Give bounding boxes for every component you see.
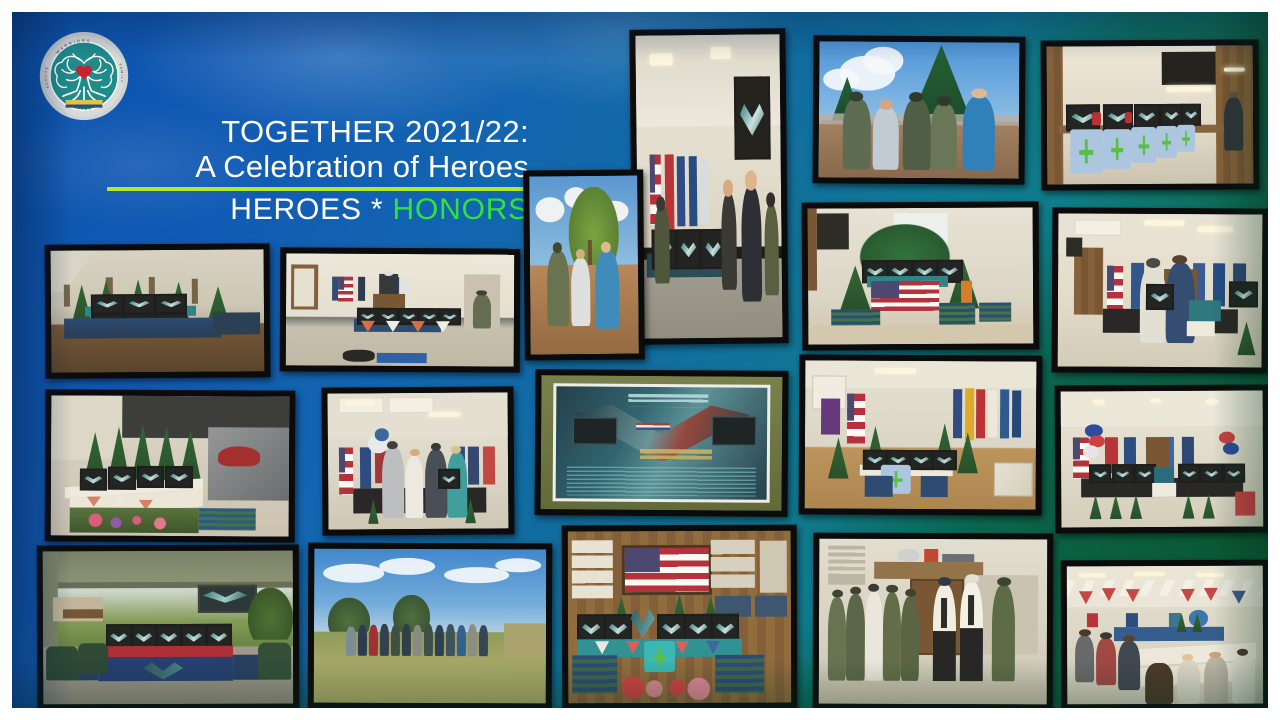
photo-honor-guard-line-indoors	[813, 533, 1054, 708]
photo-tree-planting-handshake	[523, 169, 645, 360]
photo-hallway-tshirts-display	[1041, 39, 1260, 190]
title-block: TOGETHER 2021/22: A Celebration of Heroe…	[107, 115, 529, 228]
photo-family-group-with-plaque	[321, 386, 514, 535]
photo-honor-guard-group-field	[308, 543, 553, 708]
photo-two-men-holding-plaque	[1052, 207, 1268, 373]
photo-post-hall-flag-line-display	[799, 354, 1043, 515]
photo-group-outdoors-camouflage	[812, 35, 1025, 184]
title-line-3: HEROES * HONORS	[107, 193, 529, 227]
title-underline	[107, 187, 529, 191]
photo-hall-ceremony-flags-podium	[280, 247, 521, 372]
photo-memorial-display-flowers-hall	[45, 389, 296, 542]
photo-wall-flag-memorial-display	[562, 525, 798, 708]
photo-memorial-boxes-outdoor-arena	[45, 243, 271, 379]
collage-background: WARRIORS BRAVES SCOUTS FAMILY TOGETHER 2…	[12, 12, 1268, 708]
photo-display-table-us-flag-trees	[802, 201, 1040, 350]
title-line-2: A Celebration of Heroes	[107, 150, 529, 185]
photo-balloons-memorial-table	[1055, 384, 1268, 533]
photo-event-yard-sign-poster	[534, 369, 788, 517]
photo-indoor-ceremony-speaker-flags	[629, 28, 788, 345]
title-line-1: TOGETHER 2021/22:	[107, 115, 529, 150]
organization-logo: WARRIORS BRAVES SCOUTS FAMILY	[38, 30, 130, 122]
photo-pavilion-memorial-table	[37, 545, 300, 708]
title-line-3-plain: HEROES *	[230, 193, 392, 226]
photo-banquet-hall-dinner	[1061, 560, 1268, 708]
title-line-3-accent: HONORS	[393, 193, 529, 226]
slide-canvas: WARRIORS BRAVES SCOUTS FAMILY TOGETHER 2…	[0, 0, 1280, 720]
